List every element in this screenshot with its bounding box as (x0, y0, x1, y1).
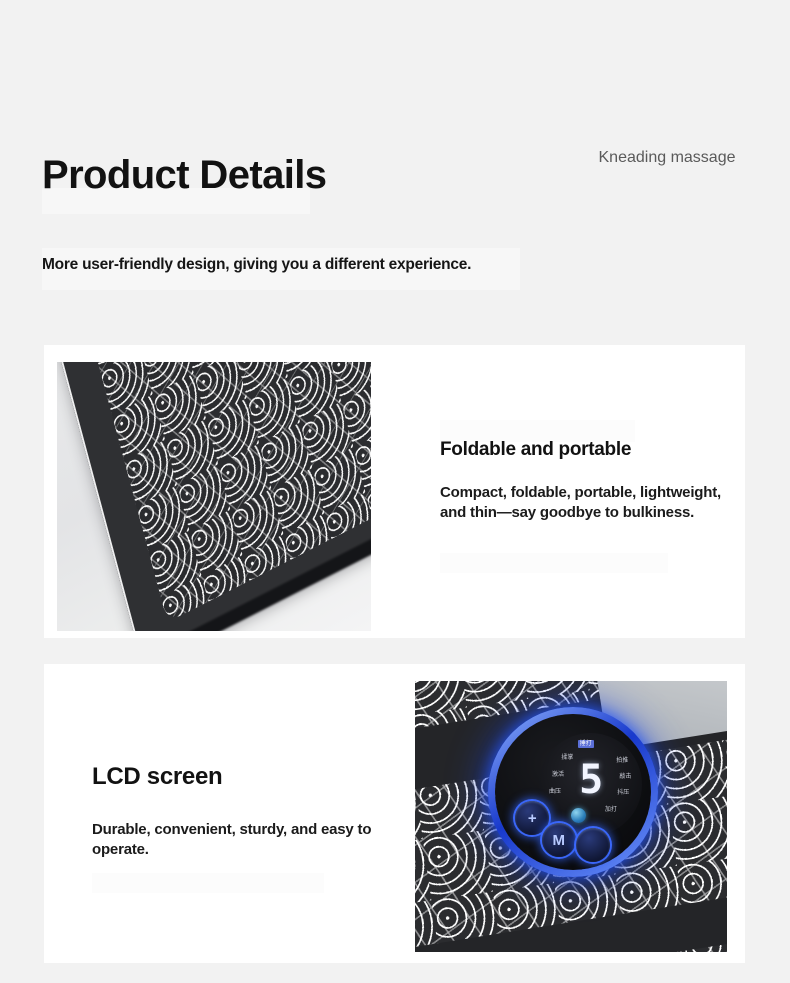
card-heading-foldable: Foldable and portable (440, 440, 730, 461)
lcd-tag-5: 敲击 (619, 774, 631, 780)
mat-body: EMS FO (57, 362, 371, 631)
lcd-tag-active: 捶打 (578, 740, 594, 748)
lcd-tag-7: 加打 (605, 807, 617, 813)
card-heading-lcd: LCD screen (92, 764, 392, 790)
lcd-tag-6: 抖压 (617, 790, 629, 796)
controller-body: 捶打 揉掌 激活 曲压 拍推 敲击 抖压 加打 5 + M (495, 714, 651, 870)
lcd-tag-1: 揉掌 (561, 755, 573, 761)
decrease-button[interactable] (576, 828, 610, 862)
ems-foot-massager-mat-photo: EMS FO (57, 362, 371, 631)
mode-button[interactable]: M (542, 823, 576, 857)
lcd-controller-photo: 捶打 揉掌 激活 曲压 拍推 敲击 抖压 加打 5 + M (415, 681, 727, 952)
overlay-artifact-card1-body (440, 553, 668, 573)
mat-spiral-print (87, 362, 371, 622)
feature-card-foldable: EMS FO Foldable and portable Compact, fo… (44, 345, 745, 638)
card-body-foldable: Compact, foldable, portable, lightweight… (440, 483, 730, 523)
lcd-tag-2: 激活 (552, 772, 564, 778)
page-title: Product Details (42, 155, 326, 195)
feature-copy-foldable: Foldable and portable Compact, foldable,… (440, 440, 730, 523)
mat-perspective-wrapper: EMS FO (57, 362, 371, 631)
feature-card-lcd: LCD screen Durable, convenient, sturdy, … (44, 664, 745, 963)
lcd-intensity-value: 5 (579, 760, 601, 800)
page-header: Product Details More user-friendly desig… (0, 0, 790, 310)
lcd-tag-3: 曲压 (549, 789, 561, 795)
photo-backdrop: EMS FO (57, 362, 371, 631)
lcd-display: 捶打 揉掌 激活 曲压 拍推 敲击 抖压 加打 5 (539, 733, 642, 836)
feature-copy-lcd: LCD screen Durable, convenient, sturdy, … (92, 764, 392, 861)
kneading-massage-note: Kneading massage (592, 147, 742, 170)
photo-backdrop: 捶打 揉掌 激活 曲压 拍推 敲击 抖压 加打 5 + M (415, 681, 727, 952)
card-body-lcd: Durable, convenient, sturdy, and easy to… (92, 820, 392, 860)
page-subtitle: More user-friendly design, giving you a … (42, 256, 471, 274)
overlay-artifact-card2-body (92, 873, 324, 893)
lcd-tag-4: 拍推 (616, 758, 628, 764)
lcd-indicator-dot (571, 808, 586, 823)
